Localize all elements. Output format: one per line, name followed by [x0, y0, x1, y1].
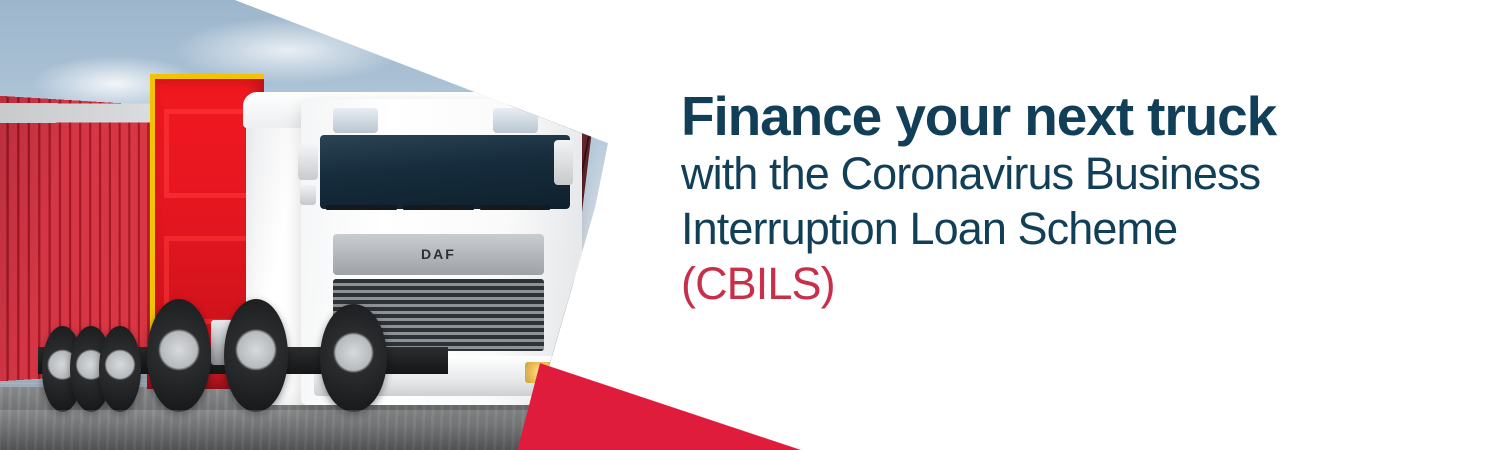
promo-banner: DAF Finance your next truck with the Cor…	[0, 0, 1500, 450]
banner-headline: Finance your next truck	[681, 86, 1381, 146]
truck-mirror-right	[554, 140, 573, 185]
truck-grille: DAF	[333, 234, 544, 275]
windshield-wiper	[480, 205, 550, 210]
truck-windshield	[320, 135, 570, 209]
truck-mirror-wide	[300, 185, 317, 205]
daf-badge: DAF	[421, 246, 456, 262]
banner-subline-1: with the Coronavirus Business	[681, 146, 1381, 201]
truck-mirror-main	[298, 144, 318, 180]
banner-acronym: (CBILS)	[681, 256, 1381, 311]
banner-subline-2: Interruption Loan Scheme	[681, 201, 1381, 256]
banner-copy: Finance your next truck with the Coronav…	[681, 86, 1381, 311]
tractor-wheel	[147, 299, 211, 412]
roof-marker-lamp-left	[333, 108, 378, 133]
tractor-wheel	[224, 299, 288, 412]
windshield-wiper	[403, 205, 473, 210]
windshield-wiper	[326, 205, 396, 210]
tractor-steer-wheel	[320, 304, 387, 412]
roof-marker-lamp-right	[493, 108, 538, 133]
trailer-wheel	[99, 326, 141, 412]
